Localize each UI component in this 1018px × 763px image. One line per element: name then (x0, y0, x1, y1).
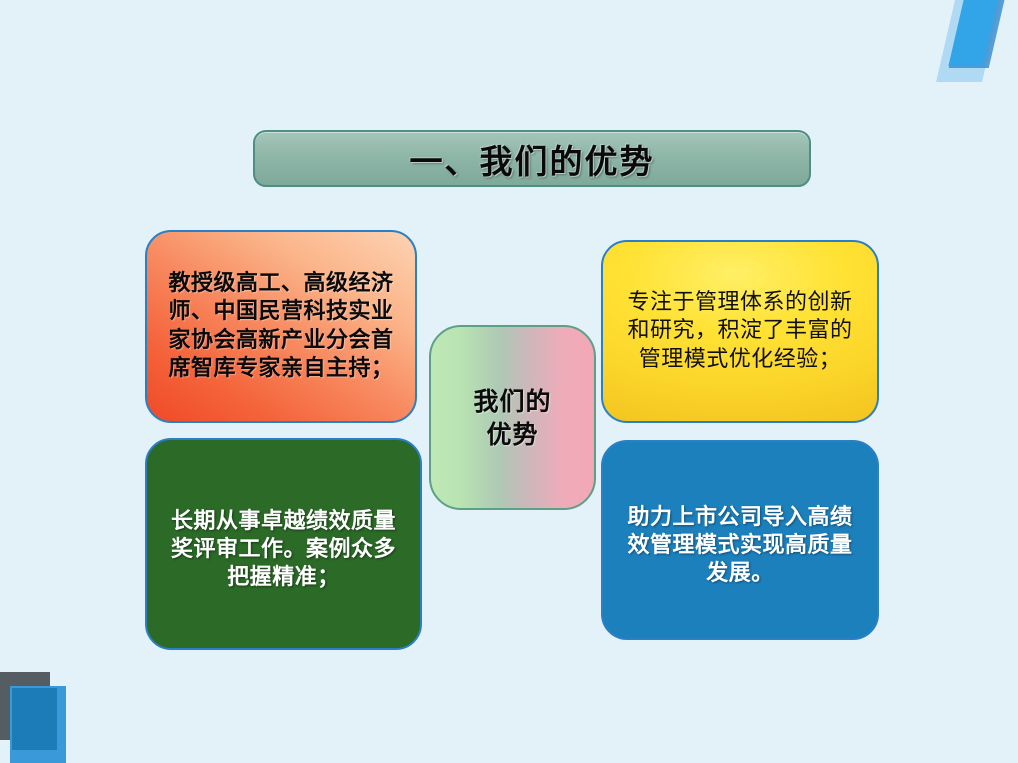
center-hub-line-2: 优势 (486, 420, 538, 449)
parallelogram-back-shape (936, 0, 1002, 82)
page-title-banner: 一、我们的优势 (253, 130, 811, 187)
advantage-card-top-right[interactable]: 专注于管理体系的创新和研究，积淀了丰富的管理模式优化经验； (601, 240, 879, 423)
advantage-card-bottom-left-text: 长期从事卓越绩效质量奖评审工作。案例众多把握精准； (147, 508, 420, 592)
advantage-card-top-right-text: 专注于管理体系的创新和研究，积淀了丰富的管理模式优化经验； (603, 289, 877, 373)
advantage-card-top-left[interactable]: 教授级高工、高级经济师、中国民营科技实业家协会高新产业分会首席智库专家亲自主持； (145, 230, 417, 423)
rectangle-gray-shape (0, 672, 50, 740)
advantage-card-bottom-right[interactable]: 助力上市公司导入高绩效管理模式实现高质量发展。 (601, 440, 879, 640)
advantage-card-bottom-left[interactable]: 长期从事卓越绩效质量奖评审工作。案例众多把握精准； (145, 438, 422, 650)
top-right-parallelogram-decoration-icon (932, 0, 1018, 94)
bottom-left-rectangle-decoration-icon (0, 668, 110, 763)
center-hub-line-1: 我们的 (473, 387, 551, 416)
page-title: 一、我们的优势 (410, 135, 655, 183)
center-hub-text: 我们的 优势 (459, 385, 565, 451)
parallelogram-front-shape (948, 0, 997, 66)
center-hub-card[interactable]: 我们的 优势 (429, 325, 596, 510)
slide-canvas: 一、我们的优势 教授级高工、高级经济师、中国民营科技实业家协会高新产业分会首席智… (0, 0, 1018, 763)
advantage-card-bottom-right-text: 助力上市公司导入高绩效管理模式实现高质量发展。 (603, 504, 877, 588)
rectangle-lightblue-shape (10, 686, 66, 763)
rectangle-blue-shape (12, 688, 57, 750)
parallelogram-middle-shape (949, 0, 1007, 68)
advantage-card-top-left-text: 教授级高工、高级经济师、中国民营科技实业家协会高新产业分会首席智库专家亲自主持； (147, 270, 415, 383)
